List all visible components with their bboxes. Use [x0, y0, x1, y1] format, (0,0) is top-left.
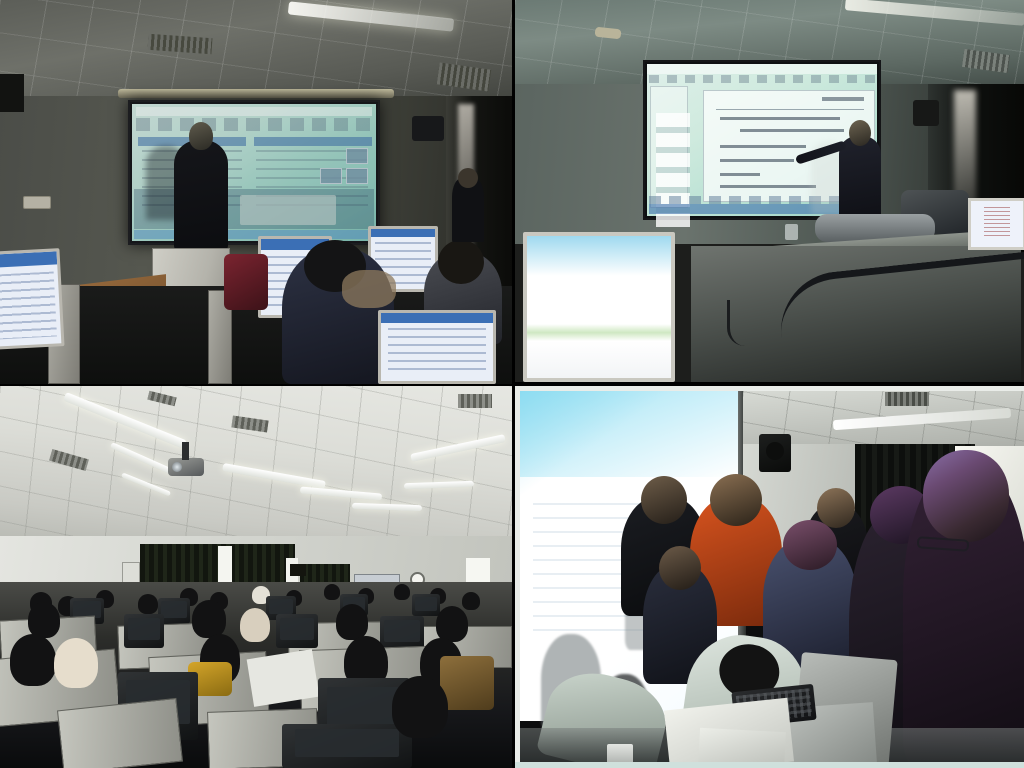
drinking-glass: [785, 224, 798, 240]
panel-top-left: [0, 0, 512, 384]
student-head: [336, 604, 368, 640]
speaker-icon: [412, 116, 444, 141]
panel-border: [515, 386, 1024, 768]
app-titlebar: [647, 64, 877, 74]
projector-lens-icon: [172, 462, 182, 472]
page-footer: [134, 230, 374, 239]
student-head: [192, 600, 226, 638]
paper-sheet: [247, 649, 320, 707]
screen-roller-tl: [118, 89, 394, 98]
speaker-icon: [913, 100, 939, 126]
student-head: [324, 584, 340, 600]
slide-thumbnail-pane: [650, 86, 688, 208]
photo-collage: [0, 0, 1024, 768]
student-head: [138, 594, 158, 614]
page-thumbnail: [346, 168, 368, 184]
student-head: [28, 602, 60, 638]
speaker-icon: [0, 74, 24, 112]
crt-monitor: [276, 614, 318, 648]
framed-picture: [122, 562, 140, 584]
page-map-widget: [240, 195, 336, 225]
computer-monitor: [523, 232, 675, 382]
panel-bottom-left: [0, 386, 512, 768]
crt-monitor: [412, 594, 440, 616]
page-thumbnail: [320, 168, 342, 184]
instructor-head-tr: [849, 120, 871, 146]
panel-bottom-band: [515, 762, 1024, 768]
crt-monitor: [282, 724, 412, 768]
instructor-head-tl: [189, 122, 213, 150]
speaker-icon: [290, 564, 306, 576]
power-outlet-icon: [23, 196, 51, 209]
student-head: [240, 608, 270, 642]
browser-toolbar: [136, 107, 372, 116]
crt-monitor: [380, 616, 424, 650]
brown-bag: [440, 656, 494, 710]
crt-monitor: [124, 614, 164, 648]
student-head: [462, 592, 480, 610]
student-head: [54, 638, 98, 688]
workstation-partition: [57, 698, 183, 768]
cable-icon: [727, 300, 763, 346]
computer-monitor: [0, 248, 65, 350]
ceiling-vent-icon: [458, 394, 492, 408]
standing-person: [452, 178, 484, 242]
instructor-tl: [174, 140, 228, 250]
panel-bottom-right: [515, 386, 1024, 768]
page-section-header: [254, 137, 372, 146]
ceiling-projector-icon: [168, 458, 204, 476]
student-head: [10, 634, 56, 686]
app-menubar: [649, 75, 879, 83]
student-head: [392, 676, 448, 738]
computer-monitor: [378, 310, 496, 384]
student-head: [436, 606, 468, 642]
projector-mount: [182, 442, 189, 460]
backpack: [224, 254, 268, 310]
page-thumbnail: [346, 148, 368, 164]
computer-monitor: [968, 198, 1024, 250]
student-head: [394, 584, 410, 600]
browser-menubar: [136, 118, 372, 131]
panel-top-right: [515, 0, 1024, 382]
